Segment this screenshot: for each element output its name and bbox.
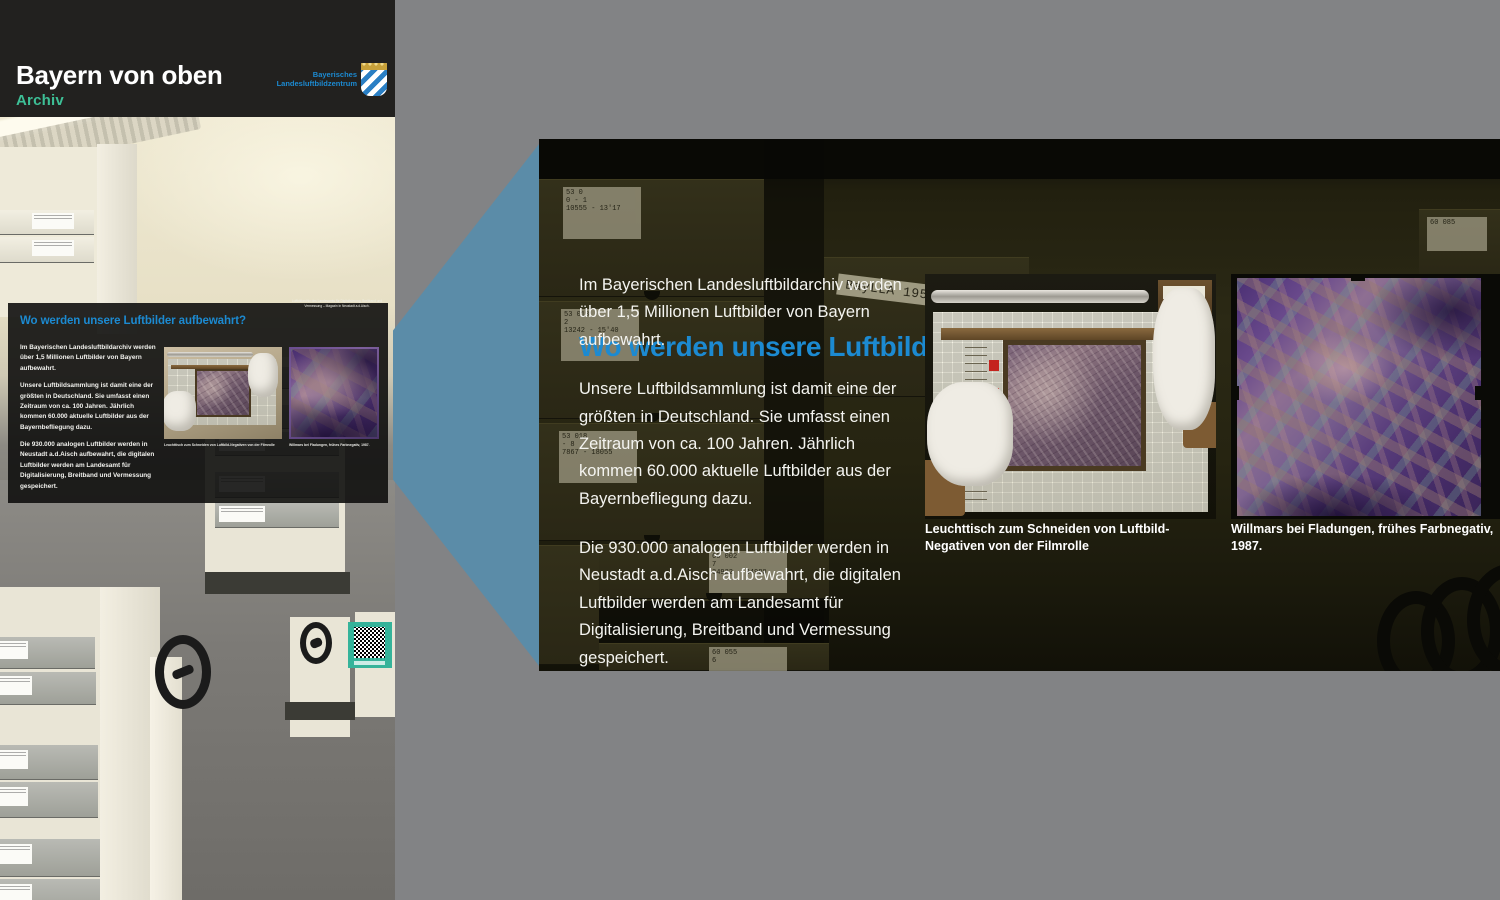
box-label	[0, 787, 28, 806]
film-notch	[1231, 386, 1239, 400]
zoom-detail-panel: 53 00 - 110555 - 13'17 53 018213242 - 15…	[539, 139, 1500, 671]
film-roller-bar	[931, 290, 1149, 303]
archive-room-photo	[0, 117, 395, 900]
qr-card-caption	[354, 661, 385, 665]
poster-photo-caption-2: Willmars bei Fladungen, frühes Farbnegat…	[289, 443, 379, 448]
panel-paragraph-1: Im Bayerischen Landesluftbildarchiv werd…	[579, 272, 909, 354]
box-label	[0, 750, 28, 769]
qr-code-card[interactable]	[348, 622, 392, 668]
shelf-plinth-right-a	[285, 702, 355, 720]
shelving-handwheel-right-a[interactable]	[300, 622, 332, 664]
slide-canvas: Luftbildarchiv des Landesamts für Digita…	[0, 0, 1500, 900]
archive-box	[0, 637, 95, 669]
shelving-handwheel[interactable]	[155, 635, 211, 709]
logo: Bayerisches Landesluftbildzentrum	[277, 63, 387, 96]
drawer-label: 60 085	[1427, 217, 1487, 251]
photo-caption-light-table: Leuchttisch zum Schneiden von Luftbild-N…	[925, 521, 1225, 555]
box-label	[0, 676, 32, 695]
panel-paragraph-2: Unsere Luftbildsammlung ist damit eine d…	[579, 376, 909, 513]
aerial-negative-image	[1237, 278, 1481, 516]
crown-icon	[361, 63, 387, 70]
gloved-hand-left	[927, 382, 1013, 486]
photo-caption-aerial: Willmars bei Fladungen, frühes Farbnegat…	[1231, 521, 1500, 555]
photo-light-table	[925, 274, 1216, 519]
archive-box	[0, 782, 98, 818]
panel-shadow-top	[539, 139, 1500, 179]
box-label	[32, 240, 74, 256]
logo-line-2: Landesluftbildzentrum	[277, 80, 357, 88]
poster-body-text: Im Bayerischen Landesluftbildarchiv werd…	[20, 343, 160, 499]
zoom-connector-shape	[393, 139, 543, 671]
cutting-frame	[941, 328, 1163, 340]
poster-paragraph-2: Unsere Luftbildsammlung ist damit eine d…	[20, 381, 160, 433]
box-label	[219, 506, 265, 522]
poster-main-title: Bayern von oben	[16, 60, 222, 91]
box-label	[0, 884, 32, 900]
panel-body-text: Im Bayerischen Landesluftbildarchiv werd…	[579, 272, 909, 671]
box-label	[0, 844, 32, 864]
bavaria-coat-of-arms-icon	[361, 63, 387, 96]
control-button[interactable]	[989, 360, 999, 371]
panel-paragraph-3: Die 930.000 analogen Luftbilder werden i…	[579, 535, 909, 671]
poster-subtitle: Archiv	[16, 92, 64, 109]
archive-box	[0, 745, 98, 780]
qr-code-icon	[354, 627, 385, 658]
archive-box	[215, 502, 339, 528]
archive-box	[0, 210, 94, 235]
poster-photo-aerial	[289, 347, 379, 439]
poster-paragraph-1: Im Bayerischen Landesluftbildarchiv werd…	[20, 343, 160, 374]
archive-box	[0, 839, 100, 877]
gloved-hand-right	[1153, 288, 1215, 430]
poster-heading: Wo werden unsere Luftbilder aufbewahrt?	[20, 315, 246, 327]
film-notch	[1351, 274, 1365, 281]
drawer-label: 53 00 - 110555 - 13'17	[563, 187, 641, 239]
poster-paragraph-3: Die 930.000 analogen Luftbilder werden i…	[20, 440, 160, 492]
logo-text: Bayerisches Landesluftbildzentrum	[277, 71, 357, 88]
poster-top-note: Luftbildarchiv des Landesamts für Digita…	[285, 299, 389, 309]
aerial-negative-on-table	[1003, 340, 1146, 471]
poster-header: Bayern von oben Archiv Bayerisches Lande…	[0, 0, 395, 117]
archive-box	[0, 879, 102, 900]
shelf-plinth	[205, 572, 350, 594]
box-label	[32, 213, 74, 229]
archive-box	[0, 237, 94, 263]
archive-box	[0, 672, 96, 705]
poster-content-card: Wo werden unsere Luftbilder aufbewahrt? …	[8, 303, 388, 503]
photo-aerial-negative	[1231, 274, 1500, 519]
poster-photo-light-table	[164, 347, 282, 439]
poster-panel: Luftbildarchiv des Landesamts für Digita…	[0, 0, 395, 900]
film-notch	[1475, 386, 1483, 400]
box-label	[0, 641, 28, 659]
poster-photo-caption-1: Leuchttisch zum Schneiden von Luftbild-N…	[164, 443, 282, 448]
